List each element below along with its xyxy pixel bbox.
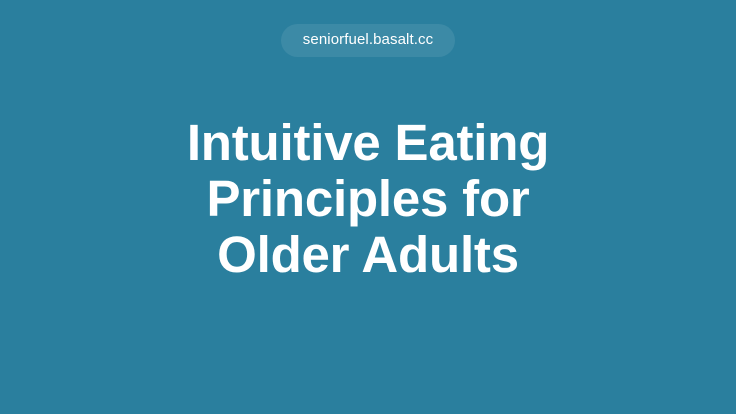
brand-pill-container: seniorfuel.basalt.cc	[0, 24, 736, 57]
headline-container: Intuitive Eating Principles for Older Ad…	[0, 115, 736, 414]
title-slide: seniorfuel.basalt.cc Intuitive Eating Pr…	[0, 0, 736, 414]
site-domain-badge: seniorfuel.basalt.cc	[281, 24, 455, 57]
page-title: Intuitive Eating Principles for Older Ad…	[148, 115, 588, 283]
